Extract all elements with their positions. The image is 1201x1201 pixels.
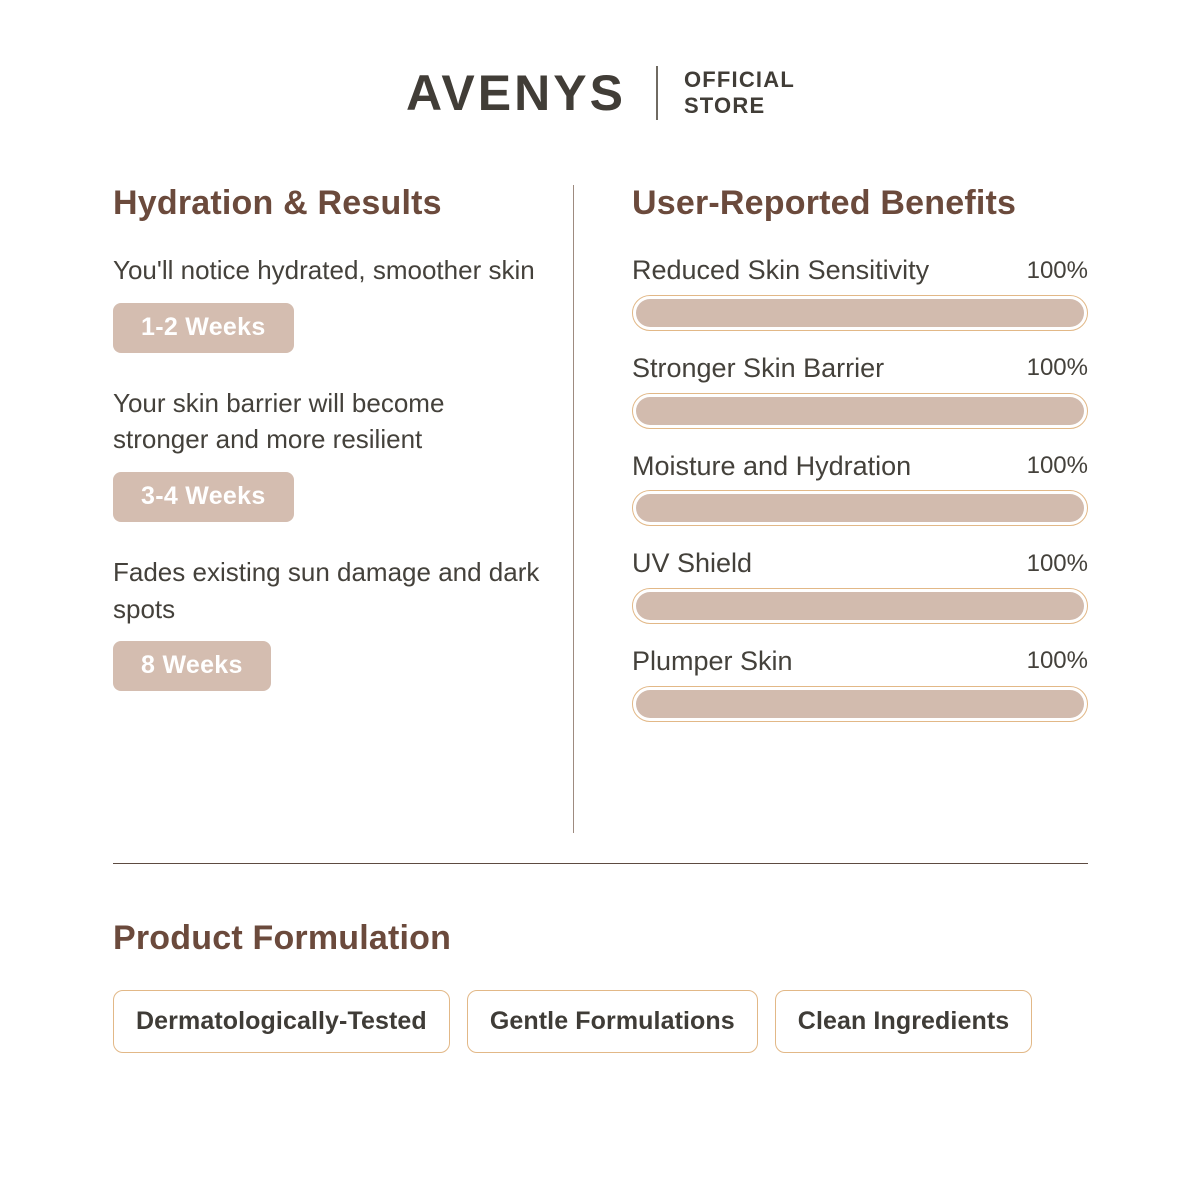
formulation-pill-row: Dermatologically-Tested Gentle Formulati… [113,990,1088,1053]
brand-name: AVENYS [406,68,626,118]
timeline-item: Fades existing sun damage and dark spots… [113,554,543,691]
benefit-percent: 100% [1027,355,1088,383]
hydration-results-section: Hydration & Results You'll notice hydrat… [113,185,573,691]
timeline-item: Your skin barrier will become stronger a… [113,385,543,522]
hydration-results-title: Hydration & Results [113,185,543,222]
product-formulation-title: Product Formulation [113,920,1088,957]
user-reported-benefits-title: User-Reported Benefits [632,185,1088,222]
benefit-percent: 100% [1027,453,1088,481]
benefit-progress-track [632,295,1088,331]
benefit-progress-track [632,588,1088,624]
benefit-head: Moisture and Hydration 100% [632,452,1088,482]
benefit-progress-track [632,393,1088,429]
brand-store-label: OFFICIAL STORE [684,67,795,119]
formulation-pill: Gentle Formulations [467,990,758,1053]
main-content: Hydration & Results You'll notice hydrat… [0,185,1201,833]
brand-store-label-line1: OFFICIAL [684,67,795,93]
benefit-progress-fill [636,299,1084,327]
benefit-percent: 100% [1027,258,1088,286]
benefit-row: Moisture and Hydration 100% [632,452,1088,527]
benefit-row: Plumper Skin 100% [632,647,1088,722]
formulation-pill: Clean Ingredients [775,990,1032,1053]
brand-header: AVENYS OFFICIAL STORE [0,0,1201,185]
benefit-progress-track [632,490,1088,526]
timeline-item-badge: 1-2 Weeks [113,303,294,352]
benefit-progress-track [632,686,1088,722]
formulation-pill: Dermatologically-Tested [113,990,450,1053]
user-reported-benefits-section: User-Reported Benefits Reduced Skin Sens… [574,185,1088,722]
benefit-label: Stronger Skin Barrier [632,354,884,384]
brand-store-label-line2: STORE [684,93,795,119]
brand-divider [656,66,658,120]
timeline-item-text: You'll notice hydrated, smoother skin [113,252,543,289]
benefit-progress-fill [636,592,1084,620]
benefit-row: Stronger Skin Barrier 100% [632,354,1088,429]
timeline-item-badge: 8 Weeks [113,641,271,690]
timeline-item-badge: 3-4 Weeks [113,472,294,521]
benefit-label: Reduced Skin Sensitivity [632,256,929,286]
benefit-head: Stronger Skin Barrier 100% [632,354,1088,384]
benefit-progress-fill [636,494,1084,522]
benefit-label: Moisture and Hydration [632,452,911,482]
benefit-row: Reduced Skin Sensitivity 100% [632,256,1088,331]
product-formulation-section: Product Formulation Dermatologically-Tes… [0,920,1201,1053]
benefit-percent: 100% [1027,551,1088,579]
benefit-head: Plumper Skin 100% [632,647,1088,677]
benefit-row: UV Shield 100% [632,549,1088,624]
benefit-head: UV Shield 100% [632,549,1088,579]
benefit-label: Plumper Skin [632,647,793,677]
timeline-item: You'll notice hydrated, smoother skin 1-… [113,252,543,352]
benefit-label: UV Shield [632,549,752,579]
benefit-progress-fill [636,690,1084,718]
horizontal-divider [113,863,1088,864]
timeline-item-text: Your skin barrier will become stronger a… [113,385,543,459]
benefit-head: Reduced Skin Sensitivity 100% [632,256,1088,286]
columns: Hydration & Results You'll notice hydrat… [113,185,1088,833]
timeline-item-text: Fades existing sun damage and dark spots [113,554,543,628]
benefit-progress-fill [636,397,1084,425]
benefit-percent: 100% [1027,648,1088,676]
